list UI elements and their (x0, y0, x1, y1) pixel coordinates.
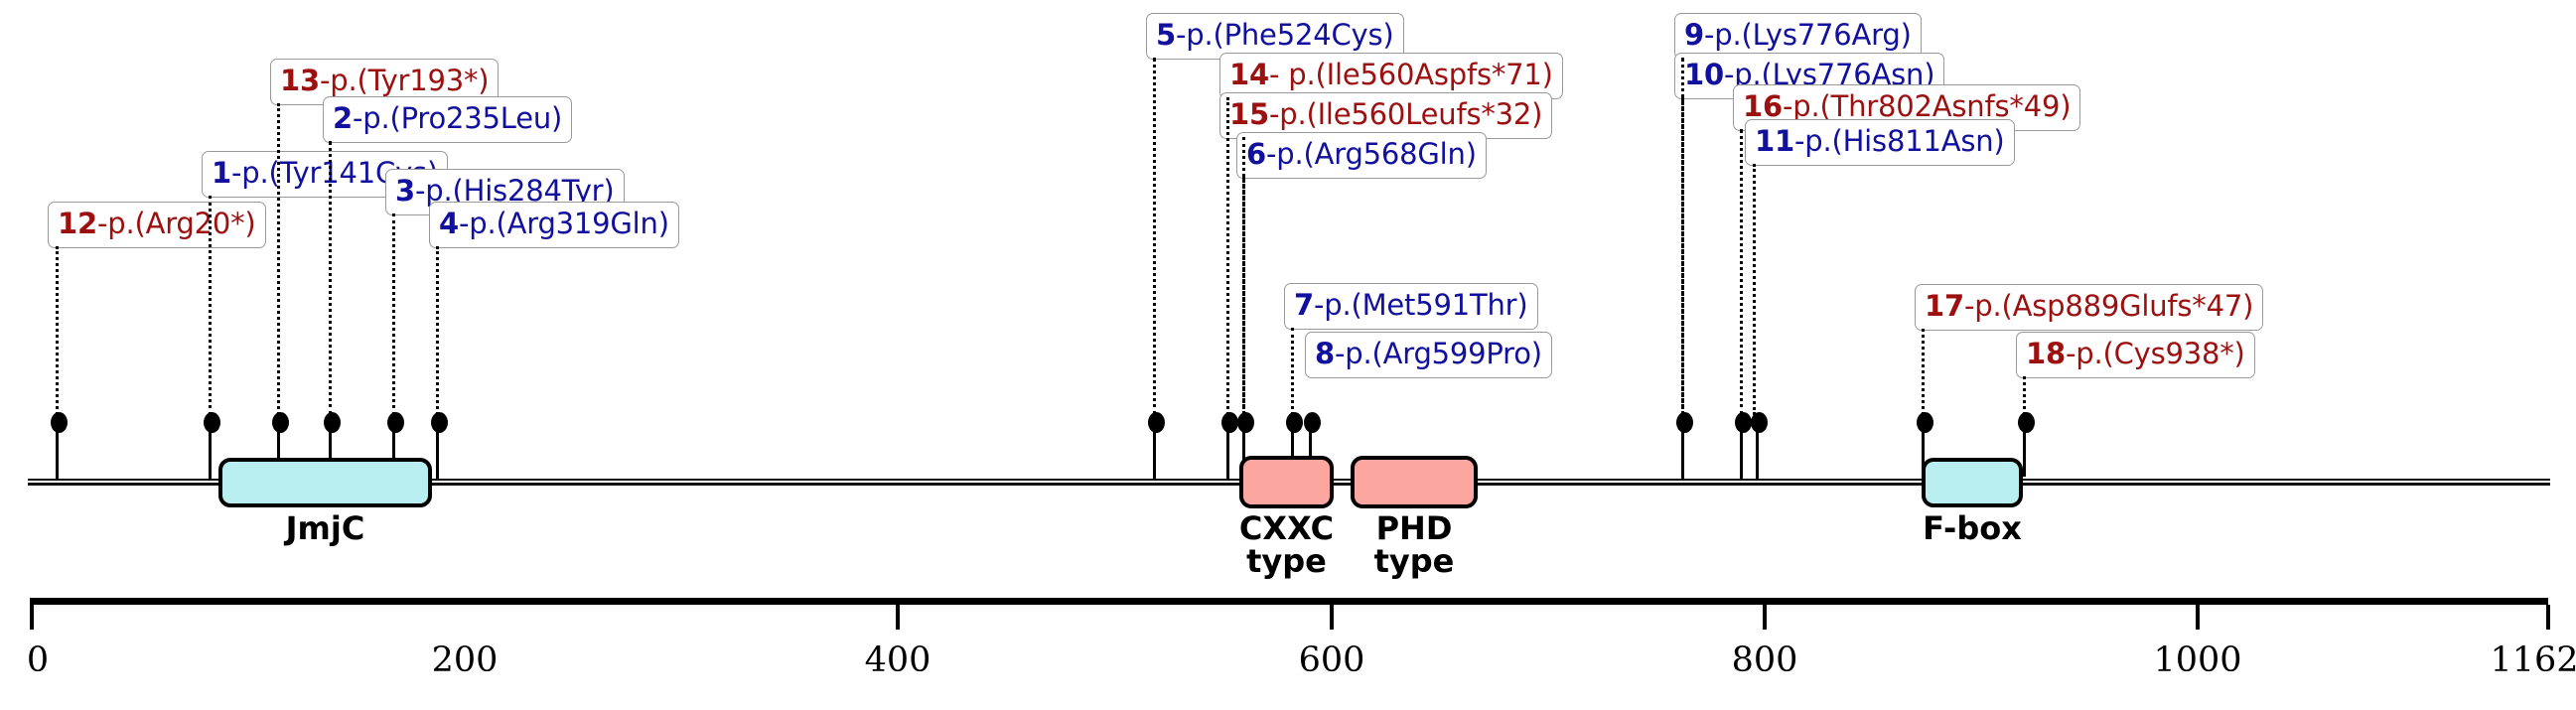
variant-number-3: 3 (395, 174, 415, 208)
lollipop-head-11[interactable] (1751, 412, 1768, 433)
variant-number-15: 15 (1229, 97, 1269, 131)
axis-tick-label-200: 200 (432, 640, 499, 680)
domain-jmjc[interactable] (218, 458, 432, 507)
variant-number-16: 16 (1743, 89, 1783, 123)
domain-label-cxxc: CXXC type (1229, 512, 1344, 577)
variant-hgvs-12: p.(Arg20*) (107, 207, 255, 240)
variant-number-7: 7 (1294, 288, 1314, 322)
variant-number-11: 11 (1755, 124, 1794, 158)
axis-tick-400 (896, 605, 900, 630)
variant-sep-9: - (1704, 18, 1714, 52)
variant-label-4[interactable]: 4-p.(Arg319Gln) (429, 202, 679, 248)
variant-number-14: 14 (1229, 58, 1269, 91)
domain-label-jmjc: JmjC (218, 512, 432, 545)
variant-hgvs-16: p.(Thr802Asnfs*49) (1792, 89, 2071, 123)
variant-number-12: 12 (58, 207, 97, 240)
variant-hgvs-11: p.(His811Asn) (1804, 124, 2004, 158)
variant-label-12[interactable]: 12-p.(Arg20*) (48, 202, 266, 248)
variant-number-1: 1 (212, 156, 231, 190)
variant-sep-16: - (1783, 89, 1792, 123)
leader-line-2 (329, 141, 332, 415)
variant-hgvs-13: p.(Tyr193*) (330, 64, 489, 97)
axis-tick-label-800: 800 (1732, 640, 1798, 680)
lollipop-head-13[interactable] (272, 412, 289, 433)
variant-sep-3: - (415, 174, 425, 208)
leader-line-1 (209, 196, 212, 415)
variant-number-2: 2 (333, 101, 353, 135)
variant-number-5: 5 (1156, 18, 1176, 52)
leader-line-17 (1922, 329, 1925, 415)
variant-sep-10: - (1724, 58, 1734, 91)
variant-number-10: 10 (1684, 58, 1724, 91)
variant-hgvs-17: p.(Asp889Glufs*47) (1974, 289, 2253, 323)
variant-label-7[interactable]: 7-p.(Met591Thr) (1284, 283, 1538, 330)
domain-fbox[interactable] (1922, 458, 2023, 507)
variant-hgvs-4: p.(Arg319Gln) (469, 207, 669, 240)
domain-label-phd: PHD type (1351, 512, 1478, 577)
axis-tick-label-400: 400 (865, 640, 931, 680)
variant-hgvs-9: p.(Lys776Arg) (1714, 18, 1911, 52)
leader-line-3 (392, 213, 395, 415)
lollipop-head-18[interactable] (2018, 412, 2035, 433)
variant-label-6[interactable]: 6-p.(Arg568Gln) (1236, 132, 1487, 179)
variant-label-8[interactable]: 8-p.(Arg599Pro) (1305, 332, 1552, 378)
variant-sep-17: - (1964, 289, 1974, 323)
lollipop-head-17[interactable] (1917, 412, 1933, 433)
axis-tick-600 (1330, 605, 1334, 630)
leader-line-10 (1681, 97, 1684, 415)
lollipop-head-14[interactable] (1221, 412, 1238, 433)
variant-hgvs-14: p.(Ile560Aspfs*71) (1288, 58, 1553, 91)
axis-tick-0 (30, 605, 34, 630)
leader-line-5 (1153, 58, 1156, 415)
lollipop-head-16[interactable] (1735, 412, 1752, 433)
leader-line-6 (1242, 177, 1245, 415)
leader-line-13 (277, 103, 280, 415)
lollipop-head-15[interactable] (1237, 412, 1254, 433)
domain-label-fbox: F-box (1902, 512, 2043, 545)
variant-number-18: 18 (2026, 337, 2066, 370)
variant-sep-8: - (1335, 337, 1345, 370)
axis-tick-1162 (2546, 605, 2550, 630)
leader-line-14 (1226, 97, 1229, 415)
domain-phd[interactable] (1351, 456, 1478, 508)
variant-label-17[interactable]: 17-p.(Asp889Glufs*47) (1915, 284, 2263, 331)
variant-hgvs-15: p.(Ile560Leufs*32) (1279, 97, 1542, 131)
variant-label-11[interactable]: 11-p.(His811Asn) (1745, 119, 2015, 166)
axis-tick-label-1000: 1000 (2153, 640, 2241, 680)
variant-sep-14: - (1269, 58, 1288, 91)
variant-number-9: 9 (1684, 18, 1704, 52)
variant-hgvs-8: p.(Arg599Pro) (1345, 337, 1542, 370)
variant-sep-6: - (1266, 137, 1276, 171)
variant-label-2[interactable]: 2-p.(Pro235Leu) (323, 96, 572, 143)
variant-sep-15: - (1269, 97, 1279, 131)
lollipop-head-12[interactable] (51, 412, 68, 433)
lollipop-head-9[interactable] (1676, 412, 1693, 433)
leader-line-8 (1291, 376, 1294, 415)
variant-sep-18: - (2066, 337, 2075, 370)
leader-line-16 (1740, 129, 1743, 415)
variant-number-17: 17 (1925, 289, 1964, 323)
variant-hgvs-7: p.(Met591Thr) (1324, 288, 1527, 322)
variant-sep-7: - (1314, 288, 1324, 322)
variant-hgvs-6: p.(Arg568Gln) (1276, 137, 1477, 171)
axis-tick-label-1162: 1162 (2490, 640, 2576, 680)
variant-hgvs-18: p.(Cys938*) (2075, 337, 2244, 370)
domain-cxxc[interactable] (1239, 456, 1334, 508)
leader-line-12 (56, 246, 59, 415)
variant-sep-12: - (97, 207, 107, 240)
protein-diagram-canvas: 12-p.(Arg20*) 1-p.(Tyr141Cys) 13-p.(Tyr1… (0, 0, 2576, 710)
variant-hgvs-5: p.(Phe524Cys) (1186, 18, 1393, 52)
variant-sep-1: - (231, 156, 241, 190)
variant-sep-11: - (1794, 124, 1804, 158)
axis-line (30, 598, 2548, 605)
variant-sep-4: - (459, 207, 469, 240)
variant-number-6: 6 (1246, 137, 1266, 171)
variant-label-18[interactable]: 18-p.(Cys938*) (2016, 332, 2255, 378)
variant-number-4: 4 (439, 207, 459, 240)
lollipop-head-5[interactable] (1148, 412, 1165, 433)
leader-line-18 (2023, 376, 2026, 415)
leader-line-4 (436, 246, 439, 415)
variant-sep-2: - (353, 101, 362, 135)
lollipop-head-3[interactable] (387, 412, 404, 433)
variant-number-8: 8 (1315, 337, 1335, 370)
lollipop-head-8[interactable] (1304, 412, 1321, 433)
axis-tick-label-600: 600 (1299, 640, 1365, 680)
lollipop-head-2[interactable] (324, 412, 341, 433)
variant-sep-13: - (320, 64, 330, 97)
lollipop-head-1[interactable] (204, 412, 220, 433)
variant-hgvs-2: p.(Pro235Leu) (362, 101, 562, 135)
lollipop-head-7[interactable] (1286, 412, 1303, 433)
axis-tick-label-0: 0 (27, 640, 49, 680)
variant-sep-5: - (1176, 18, 1186, 52)
axis-tick-800 (1763, 605, 1767, 630)
axis-tick-1000 (2196, 605, 2200, 630)
lollipop-head-4[interactable] (431, 412, 448, 433)
variant-number-13: 13 (280, 64, 320, 97)
leader-line-11 (1753, 164, 1756, 415)
